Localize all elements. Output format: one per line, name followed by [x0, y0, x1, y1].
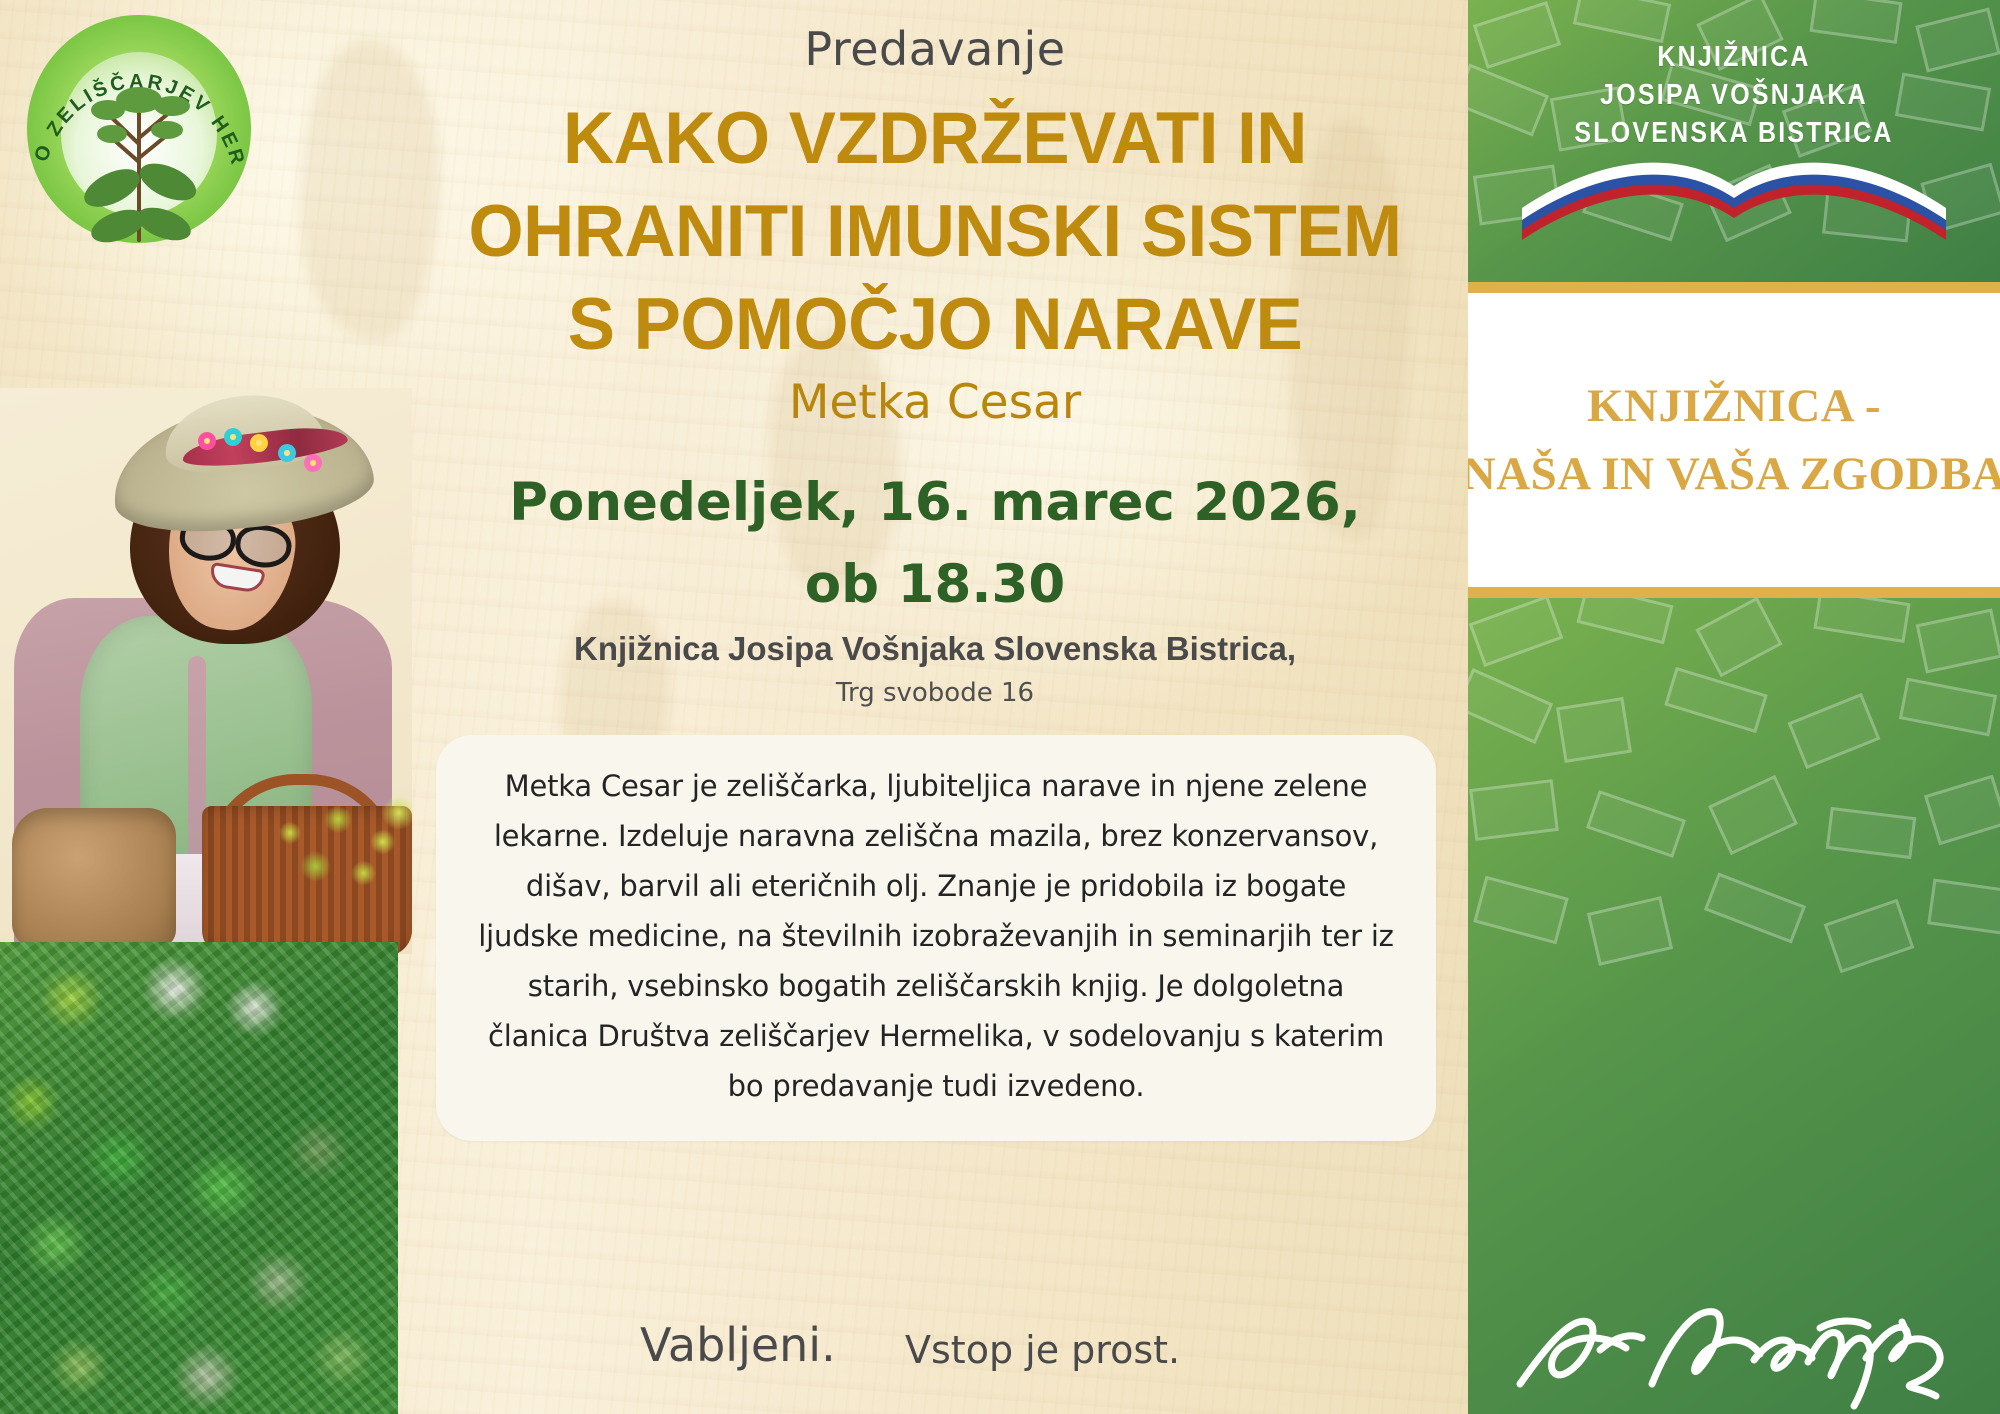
library-logo-text: KNJIŽNICA JOSIPA VOŠNJAKA SLOVENSKA BIST… [1505, 38, 1963, 152]
event-type-label: Predavanje [400, 22, 1470, 76]
library-branding-panel: KNJIŽNICA JOSIPA VOŠNJAKA SLOVENSKA BIST… [1468, 0, 2000, 1414]
library-logo-line-1: KNJIŽNICA [1505, 38, 1963, 76]
library-slogan: KNJIŽNICA - NAŠA IN VAŠA ZGODBA [1468, 372, 2000, 508]
library-slogan-line-1: KNJIŽNICA - [1468, 372, 2000, 440]
library-logo-band: KNJIŽNICA JOSIPA VOŠNJAKA SLOVENSKA BIST… [1468, 0, 2000, 282]
society-logo-graphic: DRUŠTVO ZELIŠČARJEV HERMELIKA [14, 12, 264, 246]
library-logo: KNJIŽNICA JOSIPA VOŠNJAKA SLOVENSKA BIST… [1468, 38, 2000, 248]
open-book-flag-icon [1514, 162, 1954, 248]
event-title: KAKO VZDRŽEVATI IN OHRANITI IMUNSKI SIST… [416, 92, 1454, 371]
speaker-bio-text: Metka Cesar je zeliščarka, ljubiteljica … [476, 761, 1396, 1111]
gold-divider-bottom [1468, 587, 2000, 598]
event-title-line-3: S POMOČJO NARAVE [416, 278, 1454, 371]
herbalist-society-logo: DRUŠTVO ZELIŠČARJEV HERMELIKA [14, 12, 264, 246]
event-title-line-1: KAKO VZDRŽEVATI IN [416, 92, 1454, 185]
paper-bag-prop [12, 808, 176, 948]
event-time: ob 18.30 [400, 544, 1470, 626]
event-poster: DRUŠTVO ZELIŠČARJEV HERMELIKA [0, 0, 2000, 1414]
poster-main-content: Predavanje KAKO VZDRŽEVATI IN OHRANITI I… [400, 0, 1470, 1414]
library-slogan-band: KNJIŽNICA - NAŠA IN VAŠA ZGODBA [1468, 293, 2000, 587]
event-date: Ponedeljek, 16. marec 2026, [400, 462, 1470, 544]
event-address: Trg svobode 16 [400, 678, 1470, 708]
basket-herbs [258, 788, 412, 900]
invitation-text: Vabljeni. [640, 1318, 836, 1372]
event-title-line-2: OHRANITI IMUNSKI SISTEM [416, 185, 1454, 278]
library-logo-line-3: SLOVENSKA BISTRICA [1505, 114, 1963, 152]
herbalist-portrait-photo [0, 388, 412, 954]
speaker-name: Metka Cesar [400, 375, 1470, 430]
free-entry-text: Vstop je prost. [905, 1328, 1180, 1372]
event-venue: Knjižnica Josipa Vošnjaka Slovenska Bist… [400, 630, 1470, 668]
speaker-bio-card: Metka Cesar je zeliščarka, ljubiteljica … [436, 735, 1436, 1141]
vosnjak-signature [1502, 1288, 1972, 1414]
gold-divider-top [1468, 282, 2000, 293]
library-logo-line-2: JOSIPA VOŠNJAKA [1505, 76, 1963, 114]
event-datetime: Ponedeljek, 16. marec 2026, ob 18.30 [400, 462, 1470, 626]
library-slogan-line-2: NAŠA IN VAŠA ZGODBA [1468, 440, 2000, 508]
library-door-band [1468, 598, 2000, 1414]
herb-garden-photo [0, 942, 398, 1414]
